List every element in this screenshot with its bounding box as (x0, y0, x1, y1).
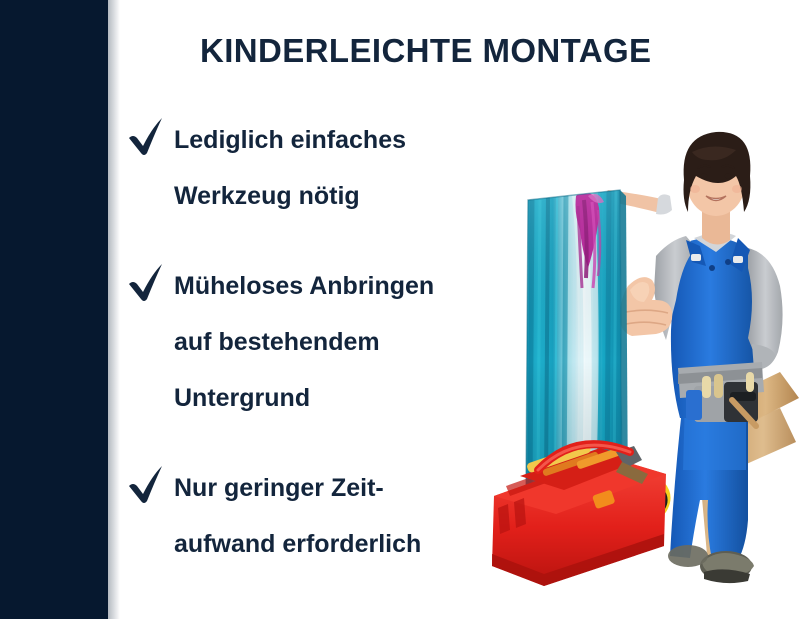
benefit-line: Lediglich einfaches (174, 112, 406, 168)
toolbox (492, 443, 666, 586)
check-icon (126, 462, 166, 506)
promo-poster: NORILIVING KINDERLEICHTE MONTAGE Ledigli… (0, 0, 799, 619)
benefit-line: aufwand erforderlich (174, 516, 421, 572)
brand-band (0, 0, 108, 619)
check-icon (126, 260, 166, 304)
benefit-line: auf bestehendem (174, 314, 434, 370)
benefit-line: Müheloses Anbringen (174, 258, 434, 314)
tool-belt (678, 362, 764, 426)
benefit-time: Nur geringer Zeit- aufwand erforderlich (126, 460, 516, 572)
benefit-text: Müheloses Anbringen auf bestehendem Unte… (174, 258, 434, 426)
benefit-list: Lediglich einfaches Werkzeug nötig Mühel… (126, 112, 516, 572)
product-photo (480, 0, 799, 619)
benefit-line: Untergrund (174, 370, 434, 426)
benefit-tools: Lediglich einfaches Werkzeug nötig (126, 112, 516, 224)
benefit-mounting: Müheloses Anbringen auf bestehendem Unte… (126, 258, 516, 426)
benefit-text: Nur geringer Zeit- aufwand erforderlich (174, 460, 421, 572)
check-icon (126, 114, 166, 158)
brand-band-shadow (108, 0, 120, 619)
benefit-line: Werkzeug nötig (174, 168, 406, 224)
benefit-line: Nur geringer Zeit- (174, 460, 421, 516)
benefit-text: Lediglich einfaches Werkzeug nötig (174, 112, 406, 224)
